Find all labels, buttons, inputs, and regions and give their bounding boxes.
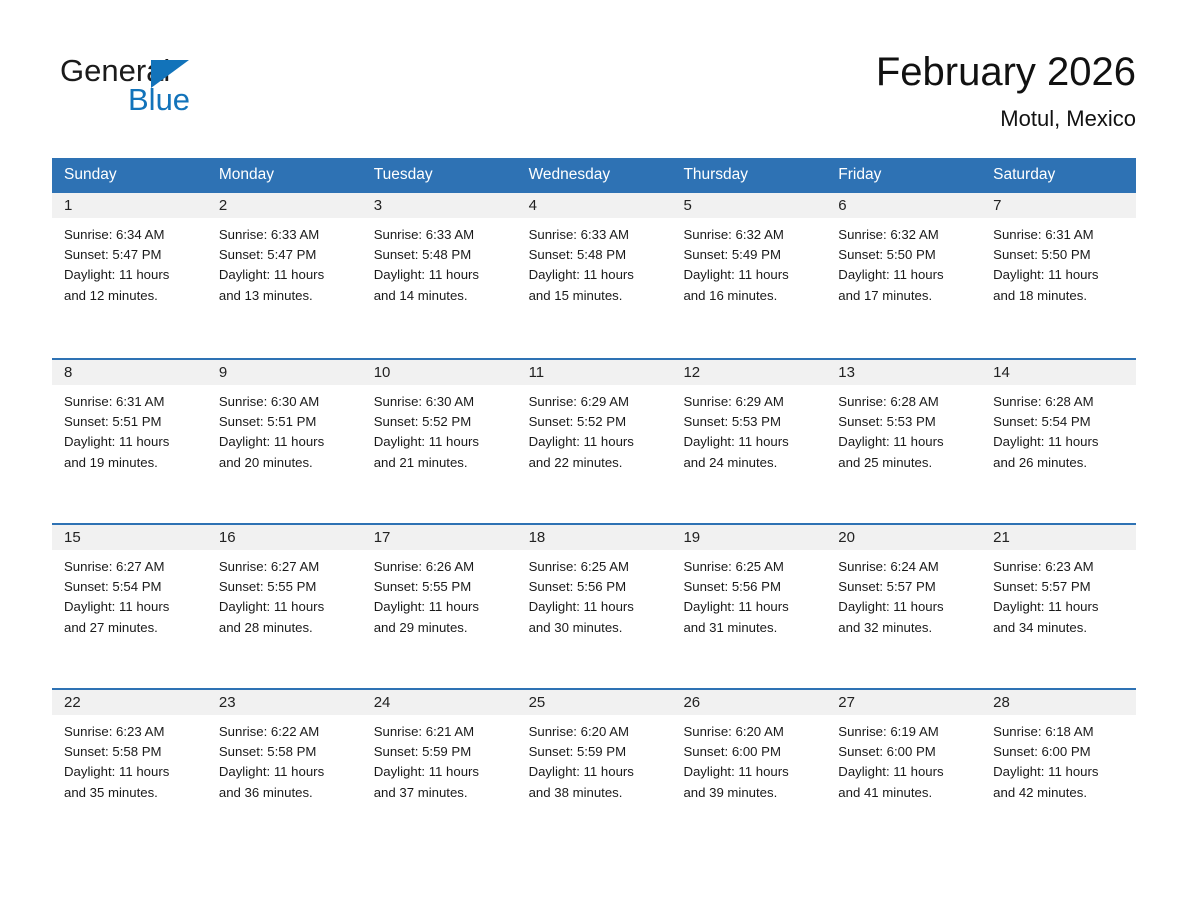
sunset-text: Sunset: 5:51 PM	[64, 412, 201, 432]
day-details: Sunrise: 6:31 AM Sunset: 5:51 PM Dayligh…	[52, 385, 207, 473]
sunrise-text: Sunrise: 6:25 AM	[683, 557, 820, 577]
daylight-text-line1: Daylight: 11 hours	[993, 265, 1130, 285]
sunset-text: Sunset: 5:47 PM	[64, 245, 201, 265]
day-number-band: 24	[362, 690, 517, 715]
day-number: 10	[374, 364, 391, 381]
sunset-text: Sunset: 6:00 PM	[838, 742, 975, 762]
day-cell[interactable]: 3 Sunrise: 6:33 AM Sunset: 5:48 PM Dayli…	[362, 193, 517, 358]
daylight-text-line2: and 25 minutes.	[838, 453, 975, 473]
day-number-band: 25	[517, 690, 672, 715]
page-subtitle: Motul, Mexico	[876, 104, 1136, 134]
day-number-band: 13	[826, 360, 981, 385]
day-number-band: 2	[207, 193, 362, 218]
day-number: 1	[64, 197, 72, 214]
day-number-band: 15	[52, 525, 207, 550]
sunset-text: Sunset: 5:59 PM	[529, 742, 666, 762]
week-row: 8 Sunrise: 6:31 AM Sunset: 5:51 PM Dayli…	[52, 358, 1136, 523]
weekday-header-friday: Friday	[826, 158, 981, 193]
daylight-text-line2: and 26 minutes.	[993, 453, 1130, 473]
day-number-band: 22	[52, 690, 207, 715]
daylight-text-line1: Daylight: 11 hours	[683, 762, 820, 782]
day-details: Sunrise: 6:23 AM Sunset: 5:57 PM Dayligh…	[981, 550, 1136, 638]
day-number-band: 12	[671, 360, 826, 385]
day-details: Sunrise: 6:30 AM Sunset: 5:51 PM Dayligh…	[207, 385, 362, 473]
sunset-text: Sunset: 5:52 PM	[374, 412, 511, 432]
daylight-text-line1: Daylight: 11 hours	[529, 762, 666, 782]
daylight-text-line1: Daylight: 11 hours	[993, 762, 1130, 782]
day-number: 4	[529, 197, 537, 214]
day-details: Sunrise: 6:31 AM Sunset: 5:50 PM Dayligh…	[981, 218, 1136, 306]
day-number: 11	[529, 364, 545, 381]
daylight-text-line2: and 34 minutes.	[993, 618, 1130, 638]
day-number: 2	[219, 197, 227, 214]
day-number-band: 8	[52, 360, 207, 385]
daylight-text-line1: Daylight: 11 hours	[683, 597, 820, 617]
day-number: 15	[64, 529, 81, 546]
daylight-text-line2: and 30 minutes.	[529, 618, 666, 638]
daylight-text-line2: and 14 minutes.	[374, 286, 511, 306]
day-cell[interactable]: 13 Sunrise: 6:28 AM Sunset: 5:53 PM Dayl…	[826, 360, 981, 523]
weekday-header-thursday: Thursday	[671, 158, 826, 193]
daylight-text-line1: Daylight: 11 hours	[683, 432, 820, 452]
sunrise-text: Sunrise: 6:32 AM	[838, 225, 975, 245]
sunset-text: Sunset: 5:58 PM	[219, 742, 356, 762]
sunrise-text: Sunrise: 6:20 AM	[529, 722, 666, 742]
sunrise-text: Sunrise: 6:26 AM	[374, 557, 511, 577]
sunrise-text: Sunrise: 6:29 AM	[683, 392, 820, 412]
sunrise-text: Sunrise: 6:32 AM	[683, 225, 820, 245]
day-cell[interactable]: 15 Sunrise: 6:27 AM Sunset: 5:54 PM Dayl…	[52, 525, 207, 688]
sunrise-text: Sunrise: 6:18 AM	[993, 722, 1130, 742]
sunset-text: Sunset: 6:00 PM	[993, 742, 1130, 762]
weekday-header-sunday: Sunday	[52, 158, 207, 193]
logo-text-blue: Blue	[128, 83, 190, 117]
sunrise-text: Sunrise: 6:31 AM	[993, 225, 1130, 245]
daylight-text-line2: and 28 minutes.	[219, 618, 356, 638]
day-cell[interactable]: 5 Sunrise: 6:32 AM Sunset: 5:49 PM Dayli…	[671, 193, 826, 358]
daylight-text-line2: and 42 minutes.	[993, 783, 1130, 803]
day-cell[interactable]: 6 Sunrise: 6:32 AM Sunset: 5:50 PM Dayli…	[826, 193, 981, 358]
day-details: Sunrise: 6:32 AM Sunset: 5:50 PM Dayligh…	[826, 218, 981, 306]
sunset-text: Sunset: 5:58 PM	[64, 742, 201, 762]
daylight-text-line1: Daylight: 11 hours	[683, 265, 820, 285]
day-details: Sunrise: 6:29 AM Sunset: 5:52 PM Dayligh…	[517, 385, 672, 473]
day-cell[interactable]: 4 Sunrise: 6:33 AM Sunset: 5:48 PM Dayli…	[517, 193, 672, 358]
day-number: 13	[838, 364, 855, 381]
daylight-text-line2: and 17 minutes.	[838, 286, 975, 306]
day-number-band: 3	[362, 193, 517, 218]
page-header: General Blue February 2026 Motul, Mexico	[0, 0, 1188, 112]
day-details: Sunrise: 6:25 AM Sunset: 5:56 PM Dayligh…	[517, 550, 672, 638]
daylight-text-line2: and 27 minutes.	[64, 618, 201, 638]
daylight-text-line2: and 32 minutes.	[838, 618, 975, 638]
daylight-text-line1: Daylight: 11 hours	[838, 265, 975, 285]
day-number-band: 14	[981, 360, 1136, 385]
day-number: 27	[838, 694, 855, 711]
day-details: Sunrise: 6:20 AM Sunset: 5:59 PM Dayligh…	[517, 715, 672, 803]
day-number: 12	[683, 364, 700, 381]
daylight-text-line1: Daylight: 11 hours	[993, 432, 1130, 452]
day-details: Sunrise: 6:18 AM Sunset: 6:00 PM Dayligh…	[981, 715, 1136, 803]
sunrise-text: Sunrise: 6:28 AM	[993, 392, 1130, 412]
day-number: 8	[64, 364, 72, 381]
daylight-text-line1: Daylight: 11 hours	[219, 265, 356, 285]
sunrise-text: Sunrise: 6:29 AM	[529, 392, 666, 412]
sunrise-text: Sunrise: 6:23 AM	[993, 557, 1130, 577]
day-cell[interactable]: 27 Sunrise: 6:19 AM Sunset: 6:00 PM Dayl…	[826, 690, 981, 853]
week-row: 22 Sunrise: 6:23 AM Sunset: 5:58 PM Dayl…	[52, 688, 1136, 853]
day-details: Sunrise: 6:25 AM Sunset: 5:56 PM Dayligh…	[671, 550, 826, 638]
day-number: 28	[993, 694, 1010, 711]
day-cell[interactable]: 1 Sunrise: 6:34 AM Sunset: 5:47 PM Dayli…	[52, 193, 207, 358]
daylight-text-line2: and 20 minutes.	[219, 453, 356, 473]
day-number: 19	[683, 529, 700, 546]
sunset-text: Sunset: 5:55 PM	[219, 577, 356, 597]
daylight-text-line1: Daylight: 11 hours	[64, 265, 201, 285]
day-number-band: 4	[517, 193, 672, 218]
day-number-band: 20	[826, 525, 981, 550]
day-number: 3	[374, 197, 382, 214]
day-details: Sunrise: 6:26 AM Sunset: 5:55 PM Dayligh…	[362, 550, 517, 638]
day-number-band: 9	[207, 360, 362, 385]
day-cell[interactable]: 12 Sunrise: 6:29 AM Sunset: 5:53 PM Dayl…	[671, 360, 826, 523]
day-details: Sunrise: 6:34 AM Sunset: 5:47 PM Dayligh…	[52, 218, 207, 306]
weekday-header-row: Sunday Monday Tuesday Wednesday Thursday…	[52, 158, 1136, 193]
day-number: 21	[993, 529, 1010, 546]
day-cell[interactable]: 17 Sunrise: 6:26 AM Sunset: 5:55 PM Dayl…	[362, 525, 517, 688]
sunrise-text: Sunrise: 6:31 AM	[64, 392, 201, 412]
sunrise-text: Sunrise: 6:19 AM	[838, 722, 975, 742]
day-number: 26	[683, 694, 700, 711]
sunrise-text: Sunrise: 6:20 AM	[683, 722, 820, 742]
day-number-band: 7	[981, 193, 1136, 218]
page-title: February 2026	[876, 48, 1136, 96]
sunrise-text: Sunrise: 6:21 AM	[374, 722, 511, 742]
day-number-band: 27	[826, 690, 981, 715]
day-cell[interactable]: 20 Sunrise: 6:24 AM Sunset: 5:57 PM Dayl…	[826, 525, 981, 688]
week-row: 1 Sunrise: 6:34 AM Sunset: 5:47 PM Dayli…	[52, 193, 1136, 358]
daylight-text-line2: and 15 minutes.	[529, 286, 666, 306]
day-details: Sunrise: 6:23 AM Sunset: 5:58 PM Dayligh…	[52, 715, 207, 803]
daylight-text-line2: and 13 minutes.	[219, 286, 356, 306]
weekday-header-saturday: Saturday	[981, 158, 1136, 193]
day-details: Sunrise: 6:33 AM Sunset: 5:48 PM Dayligh…	[517, 218, 672, 306]
day-details: Sunrise: 6:27 AM Sunset: 5:55 PM Dayligh…	[207, 550, 362, 638]
sunset-text: Sunset: 5:53 PM	[683, 412, 820, 432]
day-cell[interactable]: 11 Sunrise: 6:29 AM Sunset: 5:52 PM Dayl…	[517, 360, 672, 523]
sunset-text: Sunset: 5:57 PM	[993, 577, 1130, 597]
day-number-band: 17	[362, 525, 517, 550]
daylight-text-line2: and 39 minutes.	[683, 783, 820, 803]
sunrise-text: Sunrise: 6:23 AM	[64, 722, 201, 742]
sunset-text: Sunset: 5:47 PM	[219, 245, 356, 265]
sunset-text: Sunset: 5:56 PM	[683, 577, 820, 597]
daylight-text-line2: and 38 minutes.	[529, 783, 666, 803]
day-cell[interactable]: 14 Sunrise: 6:28 AM Sunset: 5:54 PM Dayl…	[981, 360, 1136, 523]
day-cell[interactable]: 8 Sunrise: 6:31 AM Sunset: 5:51 PM Dayli…	[52, 360, 207, 523]
sunset-text: Sunset: 5:56 PM	[529, 577, 666, 597]
daylight-text-line2: and 21 minutes.	[374, 453, 511, 473]
day-number: 24	[374, 694, 391, 711]
day-number-band: 28	[981, 690, 1136, 715]
sunset-text: Sunset: 5:59 PM	[374, 742, 511, 762]
sunset-text: Sunset: 5:55 PM	[374, 577, 511, 597]
sunrise-text: Sunrise: 6:22 AM	[219, 722, 356, 742]
day-details: Sunrise: 6:28 AM Sunset: 5:53 PM Dayligh…	[826, 385, 981, 473]
daylight-text-line1: Daylight: 11 hours	[374, 762, 511, 782]
day-number: 6	[838, 197, 846, 214]
daylight-text-line2: and 16 minutes.	[683, 286, 820, 306]
day-cell[interactable]: 19 Sunrise: 6:25 AM Sunset: 5:56 PM Dayl…	[671, 525, 826, 688]
calendar-grid: Sunday Monday Tuesday Wednesday Thursday…	[52, 158, 1136, 853]
day-number-band: 26	[671, 690, 826, 715]
day-details: Sunrise: 6:32 AM Sunset: 5:49 PM Dayligh…	[671, 218, 826, 306]
daylight-text-line2: and 36 minutes.	[219, 783, 356, 803]
day-number-band: 11	[517, 360, 672, 385]
generalblue-logo[interactable]: General Blue	[52, 46, 252, 116]
daylight-text-line2: and 22 minutes.	[529, 453, 666, 473]
day-details: Sunrise: 6:28 AM Sunset: 5:54 PM Dayligh…	[981, 385, 1136, 473]
day-number: 20	[838, 529, 855, 546]
daylight-text-line2: and 31 minutes.	[683, 618, 820, 638]
day-number-band: 6	[826, 193, 981, 218]
weekday-header-tuesday: Tuesday	[362, 158, 517, 193]
sunrise-text: Sunrise: 6:33 AM	[219, 225, 356, 245]
day-cell[interactable]: 26 Sunrise: 6:20 AM Sunset: 6:00 PM Dayl…	[671, 690, 826, 853]
day-number: 14	[993, 364, 1010, 381]
daylight-text-line1: Daylight: 11 hours	[64, 762, 201, 782]
weekday-header-wednesday: Wednesday	[517, 158, 672, 193]
day-cell[interactable]: 9 Sunrise: 6:30 AM Sunset: 5:51 PM Dayli…	[207, 360, 362, 523]
daylight-text-line1: Daylight: 11 hours	[529, 597, 666, 617]
day-cell[interactable]: 28 Sunrise: 6:18 AM Sunset: 6:00 PM Dayl…	[981, 690, 1136, 853]
day-cell[interactable]: 10 Sunrise: 6:30 AM Sunset: 5:52 PM Dayl…	[362, 360, 517, 523]
sunset-text: Sunset: 5:57 PM	[838, 577, 975, 597]
day-details: Sunrise: 6:22 AM Sunset: 5:58 PM Dayligh…	[207, 715, 362, 803]
day-cell[interactable]: 18 Sunrise: 6:25 AM Sunset: 5:56 PM Dayl…	[517, 525, 672, 688]
daylight-text-line1: Daylight: 11 hours	[374, 265, 511, 285]
day-number-band: 16	[207, 525, 362, 550]
sunset-text: Sunset: 5:48 PM	[529, 245, 666, 265]
daylight-text-line1: Daylight: 11 hours	[374, 432, 511, 452]
sunrise-text: Sunrise: 6:33 AM	[529, 225, 666, 245]
day-details: Sunrise: 6:33 AM Sunset: 5:48 PM Dayligh…	[362, 218, 517, 306]
sunset-text: Sunset: 5:53 PM	[838, 412, 975, 432]
daylight-text-line2: and 41 minutes.	[838, 783, 975, 803]
daylight-text-line2: and 18 minutes.	[993, 286, 1130, 306]
daylight-text-line1: Daylight: 11 hours	[64, 432, 201, 452]
daylight-text-line1: Daylight: 11 hours	[374, 597, 511, 617]
weekday-header-monday: Monday	[207, 158, 362, 193]
day-number: 25	[529, 694, 546, 711]
day-number: 5	[683, 197, 691, 214]
day-details: Sunrise: 6:30 AM Sunset: 5:52 PM Dayligh…	[362, 385, 517, 473]
day-number: 23	[219, 694, 236, 711]
daylight-text-line1: Daylight: 11 hours	[838, 762, 975, 782]
daylight-text-line2: and 37 minutes.	[374, 783, 511, 803]
day-cell[interactable]: 22 Sunrise: 6:23 AM Sunset: 5:58 PM Dayl…	[52, 690, 207, 853]
daylight-text-line1: Daylight: 11 hours	[529, 432, 666, 452]
day-number-band: 23	[207, 690, 362, 715]
day-number: 17	[374, 529, 391, 546]
day-number-band: 19	[671, 525, 826, 550]
day-cell[interactable]: 23 Sunrise: 6:22 AM Sunset: 5:58 PM Dayl…	[207, 690, 362, 853]
sunrise-text: Sunrise: 6:27 AM	[64, 557, 201, 577]
sunset-text: Sunset: 6:00 PM	[683, 742, 820, 762]
sunrise-text: Sunrise: 6:27 AM	[219, 557, 356, 577]
day-cell[interactable]: 25 Sunrise: 6:20 AM Sunset: 5:59 PM Dayl…	[517, 690, 672, 853]
sunrise-text: Sunrise: 6:34 AM	[64, 225, 201, 245]
daylight-text-line1: Daylight: 11 hours	[64, 597, 201, 617]
day-cell[interactable]: 2 Sunrise: 6:33 AM Sunset: 5:47 PM Dayli…	[207, 193, 362, 358]
daylight-text-line2: and 24 minutes.	[683, 453, 820, 473]
daylight-text-line1: Daylight: 11 hours	[219, 762, 356, 782]
day-number-band: 21	[981, 525, 1136, 550]
day-details: Sunrise: 6:24 AM Sunset: 5:57 PM Dayligh…	[826, 550, 981, 638]
day-cell[interactable]: 16 Sunrise: 6:27 AM Sunset: 5:55 PM Dayl…	[207, 525, 362, 688]
sunrise-text: Sunrise: 6:33 AM	[374, 225, 511, 245]
daylight-text-line2: and 29 minutes.	[374, 618, 511, 638]
day-details: Sunrise: 6:33 AM Sunset: 5:47 PM Dayligh…	[207, 218, 362, 306]
sunrise-text: Sunrise: 6:30 AM	[219, 392, 356, 412]
sunset-text: Sunset: 5:50 PM	[993, 245, 1130, 265]
daylight-text-line2: and 12 minutes.	[64, 286, 201, 306]
day-details: Sunrise: 6:19 AM Sunset: 6:00 PM Dayligh…	[826, 715, 981, 803]
daylight-text-line1: Daylight: 11 hours	[219, 432, 356, 452]
day-number-band: 1	[52, 193, 207, 218]
day-cell[interactable]: 24 Sunrise: 6:21 AM Sunset: 5:59 PM Dayl…	[362, 690, 517, 853]
day-number: 16	[219, 529, 236, 546]
day-details: Sunrise: 6:27 AM Sunset: 5:54 PM Dayligh…	[52, 550, 207, 638]
title-block: February 2026 Motul, Mexico	[876, 46, 1136, 134]
week-row: 15 Sunrise: 6:27 AM Sunset: 5:54 PM Dayl…	[52, 523, 1136, 688]
sunset-text: Sunset: 5:54 PM	[64, 577, 201, 597]
day-cell[interactable]: 7 Sunrise: 6:31 AM Sunset: 5:50 PM Dayli…	[981, 193, 1136, 358]
day-number: 22	[64, 694, 81, 711]
sunrise-text: Sunrise: 6:30 AM	[374, 392, 511, 412]
day-number-band: 18	[517, 525, 672, 550]
sunrise-text: Sunrise: 6:25 AM	[529, 557, 666, 577]
day-number: 7	[993, 197, 1001, 214]
sunset-text: Sunset: 5:48 PM	[374, 245, 511, 265]
sunrise-text: Sunrise: 6:24 AM	[838, 557, 975, 577]
day-details: Sunrise: 6:29 AM Sunset: 5:53 PM Dayligh…	[671, 385, 826, 473]
daylight-text-line2: and 35 minutes.	[64, 783, 201, 803]
daylight-text-line1: Daylight: 11 hours	[838, 432, 975, 452]
calendar-page: General Blue February 2026 Motul, Mexico…	[0, 0, 1188, 918]
daylight-text-line1: Daylight: 11 hours	[219, 597, 356, 617]
day-number: 9	[219, 364, 227, 381]
day-details: Sunrise: 6:21 AM Sunset: 5:59 PM Dayligh…	[362, 715, 517, 803]
day-cell[interactable]: 21 Sunrise: 6:23 AM Sunset: 5:57 PM Dayl…	[981, 525, 1136, 688]
sunrise-text: Sunrise: 6:28 AM	[838, 392, 975, 412]
daylight-text-line1: Daylight: 11 hours	[529, 265, 666, 285]
day-number-band: 5	[671, 193, 826, 218]
day-number-band: 10	[362, 360, 517, 385]
sunset-text: Sunset: 5:50 PM	[838, 245, 975, 265]
daylight-text-line1: Daylight: 11 hours	[993, 597, 1130, 617]
sunset-text: Sunset: 5:49 PM	[683, 245, 820, 265]
daylight-text-line1: Daylight: 11 hours	[838, 597, 975, 617]
sunset-text: Sunset: 5:51 PM	[219, 412, 356, 432]
sunset-text: Sunset: 5:52 PM	[529, 412, 666, 432]
sunset-text: Sunset: 5:54 PM	[993, 412, 1130, 432]
day-number: 18	[529, 529, 546, 546]
day-details: Sunrise: 6:20 AM Sunset: 6:00 PM Dayligh…	[671, 715, 826, 803]
daylight-text-line2: and 19 minutes.	[64, 453, 201, 473]
